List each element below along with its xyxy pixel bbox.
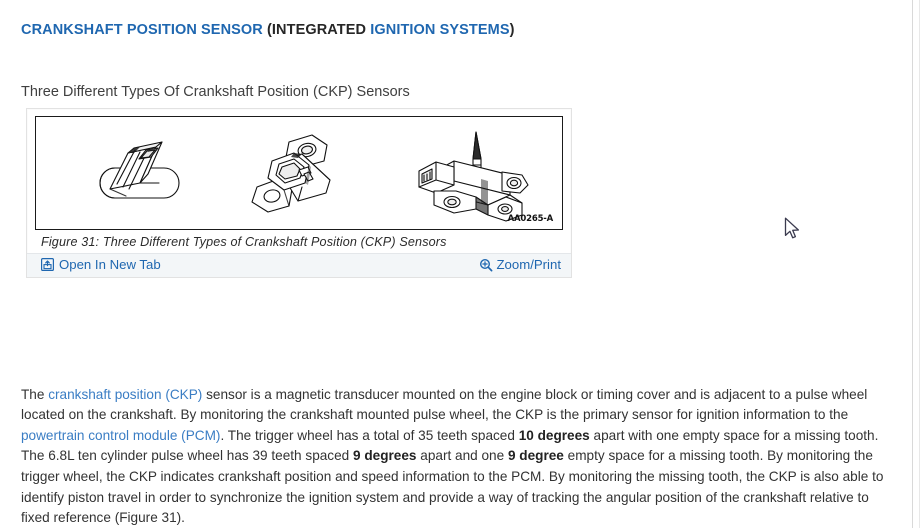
page-title: CRANKSHAFT POSITION SENSOR (INTEGRATED I… xyxy=(21,22,515,38)
bold-9-degrees: 9 degrees xyxy=(353,448,416,463)
zoom-print-button[interactable]: Zoom/Print xyxy=(479,257,562,272)
page-right-rule xyxy=(912,0,913,528)
figure-card: AA0265-A Figure 31: Three Different Type… xyxy=(26,108,572,278)
open-in-new-tab-label: Open In New Tab xyxy=(59,257,161,272)
link-crankshaft-position-ckp[interactable]: crankshaft position (CKP) xyxy=(48,387,202,402)
link-powertrain-control-module-pcm[interactable]: powertrain control module (PCM) xyxy=(21,428,220,443)
figure-action-bar: Open In New Tab Zoom/Print xyxy=(27,253,571,277)
body-text-3: . The trigger wheel has a total of 35 te… xyxy=(220,428,518,443)
body-text-1: The xyxy=(21,387,48,402)
ckp-sensors-illustration xyxy=(36,117,562,227)
page-right-rule-outer xyxy=(919,0,920,528)
page-title-plain-open: (INTEGRATED xyxy=(263,22,370,38)
bold-10-degrees: 10 degrees xyxy=(519,428,590,443)
page-title-link-crankshaft-position-sensor[interactable]: CRANKSHAFT POSITION SENSOR xyxy=(21,22,263,38)
magnifier-plus-icon xyxy=(479,258,493,272)
open-in-new-tab-icon xyxy=(41,258,54,271)
open-in-new-tab-button[interactable]: Open In New Tab xyxy=(41,257,161,272)
bold-9-degree: 9 degree xyxy=(508,448,564,463)
body-text-5: apart and one xyxy=(417,448,508,463)
page-title-link-ignition-systems[interactable]: IGNITION SYSTEMS xyxy=(370,22,509,38)
figure-subtitle: Three Different Types Of Crankshaft Posi… xyxy=(21,84,410,100)
figure-part-number: AA0265-A xyxy=(508,214,553,224)
page-title-plain-close: ) xyxy=(510,22,515,38)
figure-caption: Figure 31: Three Different Types of Cran… xyxy=(41,235,571,249)
mouse-arrow-cursor xyxy=(784,217,802,241)
figure-image[interactable]: AA0265-A xyxy=(35,116,563,230)
zoom-print-label: Zoom/Print xyxy=(497,257,562,272)
body-paragraph: The crankshaft position (CKP) sensor is … xyxy=(21,385,899,529)
